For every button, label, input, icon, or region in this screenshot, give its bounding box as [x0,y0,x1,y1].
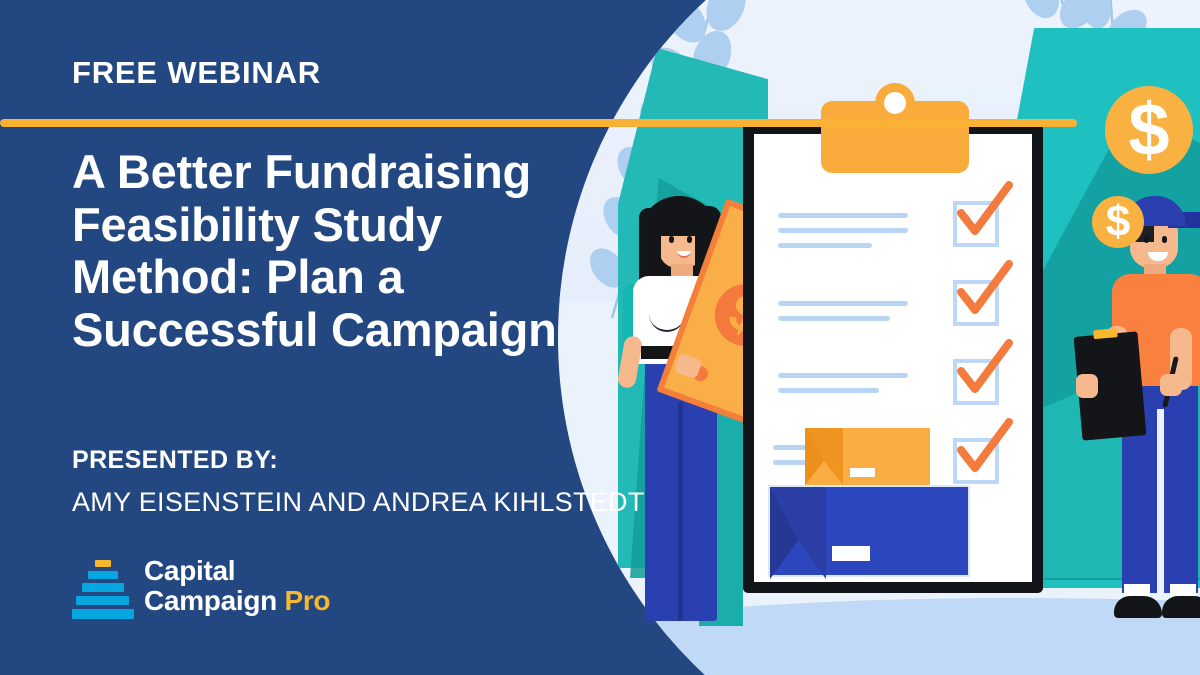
shoe [1162,596,1200,618]
presented-by-label: PRESENTED BY: [72,446,278,475]
checklist-item [953,201,999,247]
gold-divider-rule [0,119,1077,127]
check-icon [951,416,1015,480]
hand [1160,374,1182,396]
checklist-item [953,359,999,405]
dollar-coin-icon: $ [1092,196,1144,248]
text-lines [778,213,908,258]
dollar-symbol: $ [1128,93,1169,167]
eye [1144,236,1149,243]
kicker-label: FREE WEBINAR [72,55,321,91]
hand [1076,374,1098,398]
text-lines [778,373,908,403]
webinar-promo-banner: $ [0,0,1200,675]
page-title: A Better Fundraising Feasibility Study M… [72,146,632,357]
capital-campaign-pro-logo[interactable]: Capital Campaign Pro [72,558,392,622]
shoe [1114,596,1162,618]
eye [1162,236,1167,243]
text-lines [778,301,908,331]
checklist-item [953,438,999,484]
check-icon [951,258,1015,322]
logo-line-1: Capital [144,556,330,586]
donation-box-blue [768,485,970,577]
eye [687,236,692,243]
check-icon [951,337,1015,401]
pyramid-bars-icon [72,560,134,618]
dollar-coin-icon: $ [1105,86,1193,174]
dollar-symbol: $ [1106,200,1130,244]
logo-line-2-primary: Campaign [144,585,277,616]
presenter-names: AMY EISENSTEIN AND ANDREA KIHLSTEDT [72,487,645,518]
donation-box-orange [805,428,930,485]
check-icon [951,179,1015,243]
checklist-item [953,280,999,326]
character-man [1108,196,1200,626]
text-column: FREE WEBINAR A Better Fundraising Feasib… [72,0,672,675]
clipboard-ring [875,83,915,123]
checklist [953,201,999,517]
logo-line-2-accent: Pro [284,585,330,616]
